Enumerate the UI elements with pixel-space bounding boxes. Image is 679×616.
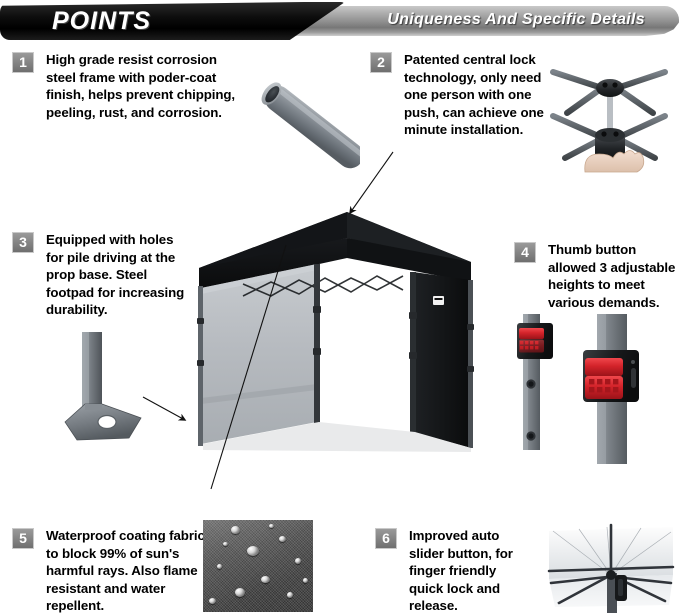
water-droplet (223, 542, 228, 546)
water-droplet (235, 588, 245, 597)
water-droplet (247, 546, 259, 556)
canopy-interior-photo (545, 523, 677, 613)
water-droplet (231, 526, 240, 534)
point-6-text: Improved auto slider button, for finger … (409, 527, 533, 615)
water-droplet (279, 536, 286, 542)
header-subtitle: Uniqueness And Specific Details (387, 11, 645, 29)
steel-footpad-photo (55, 330, 175, 450)
pop-up-canopy-tent (175, 200, 505, 475)
water-droplet (295, 558, 301, 564)
water-droplet (261, 576, 270, 583)
point-4-text: Thumb button allowed 3 adjustable height… (548, 241, 679, 311)
point-3-text: Equipped with holes for pile driving at … (46, 231, 191, 319)
point-1-text: High grade resist corrosion steel frame … (46, 51, 246, 121)
water-droplet (303, 578, 308, 583)
water-droplet (217, 564, 222, 569)
thumb-button-photo (505, 312, 679, 472)
central-lock-photo (545, 50, 675, 175)
waterproof-fabric-swatch (203, 520, 313, 612)
page-header: Uniqueness And Specific Details POINTS (0, 2, 679, 40)
water-droplet (287, 592, 293, 598)
point-6-badge: 6 (375, 528, 397, 549)
point-4-badge: 4 (514, 242, 536, 263)
point-5-badge: 5 (12, 528, 34, 549)
water-droplet (269, 524, 274, 528)
point-2-badge: 2 (370, 52, 392, 73)
water-droplet (209, 598, 216, 604)
header-tab-label: POINTS (52, 7, 151, 36)
point-3-badge: 3 (12, 232, 34, 253)
point-5-text: Waterproof coating fabric to block 99% o… (46, 527, 206, 615)
point-1-badge: 1 (12, 52, 34, 73)
point-2-text: Patented central lock technology, only n… (404, 51, 556, 139)
steel-tube-photo (258, 82, 360, 170)
